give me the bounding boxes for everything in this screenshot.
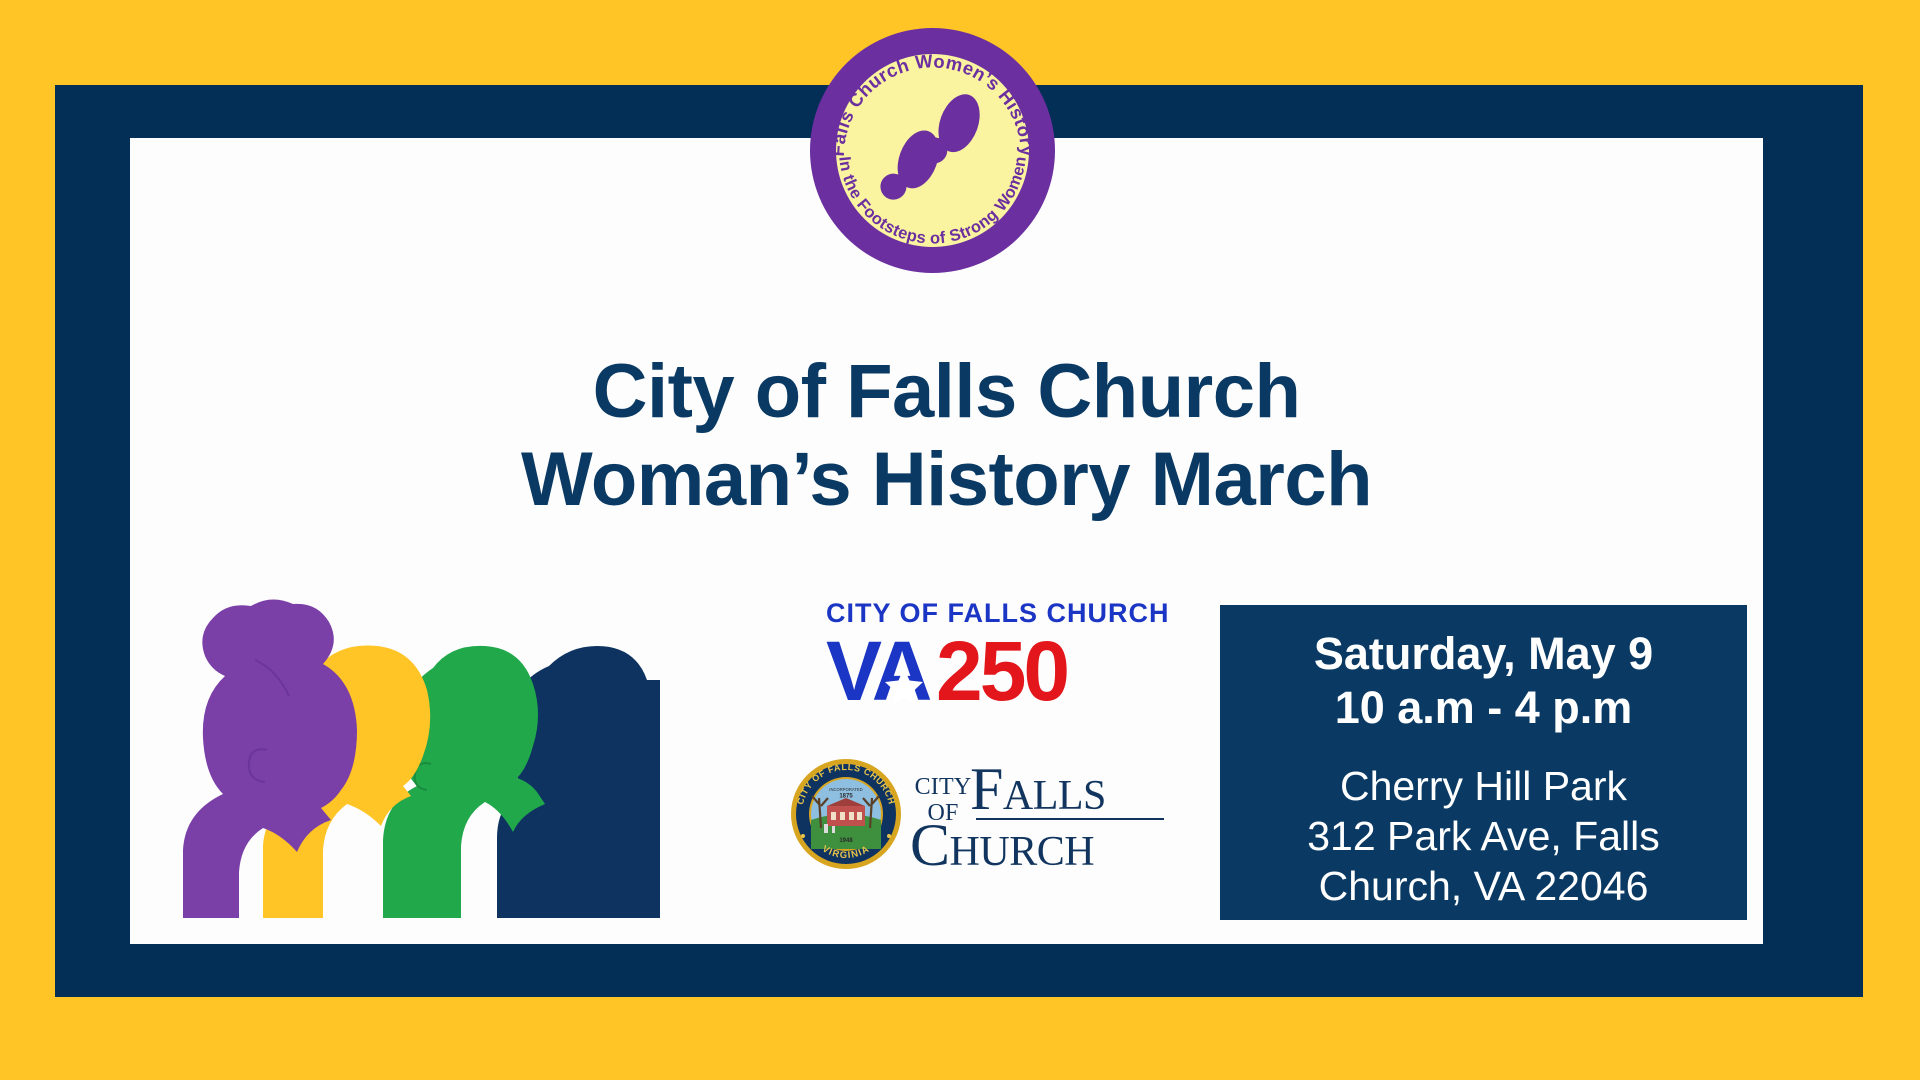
womens-history-badge-logo: Falls Church Women’s History In the Foot…	[810, 28, 1055, 273]
event-address-line-1: 312 Park Ave, Falls	[1236, 811, 1731, 861]
event-time: 10 a.m - 4 p.m	[1236, 681, 1731, 735]
city-seal-icon: INCORPORATED 1875 1948 CITY OF FALLS CHU…	[790, 758, 902, 870]
footprints-icon	[864, 80, 1002, 222]
event-venue: Cherry Hill Park	[1236, 761, 1731, 811]
seal-left-dot	[801, 834, 805, 838]
women-silhouettes-illustration	[145, 588, 660, 918]
event-flyer: Falls Church Women’s History In the Foot…	[0, 0, 1920, 1080]
title-line-1: City of Falls Church	[130, 348, 1763, 436]
seal-lower-year: 1948	[839, 838, 853, 844]
va250-va-text: VA	[826, 630, 931, 708]
city-of-falls-church-logo: INCORPORATED 1875 1948 CITY OF FALLS CHU…	[790, 752, 1170, 880]
va250-top-line: CITY OF FALLS CHURCH	[826, 598, 1132, 628]
va250-main-lockup: VA 250	[826, 630, 1132, 708]
flyer-title: City of Falls Church Woman’s History Mar…	[130, 348, 1763, 524]
event-date: Saturday, May 9	[1236, 627, 1731, 681]
wordmark-church: CHURCH	[910, 814, 1094, 883]
seal-incorporated-label: INCORPORATED	[829, 787, 862, 792]
seal-right-dot	[887, 834, 891, 838]
va250-wordmark: VA 250	[826, 630, 1132, 708]
wordmark-city: CITY	[910, 774, 976, 800]
city-wordmark: CITY OF FALLS CHURCH	[908, 752, 1166, 880]
event-details-box: Saturday, May 9 10 a.m - 4 p.m Cherry Hi…	[1220, 605, 1747, 920]
event-address-line-2: Church, VA 22046	[1236, 861, 1731, 911]
va250-logo: CITY OF FALLS CHURCH VA 250	[826, 598, 1132, 708]
title-line-2: Woman’s History March	[130, 436, 1763, 524]
va250-number-text: 250	[936, 630, 1067, 708]
seal-incorporated-year: 1875	[839, 794, 853, 800]
